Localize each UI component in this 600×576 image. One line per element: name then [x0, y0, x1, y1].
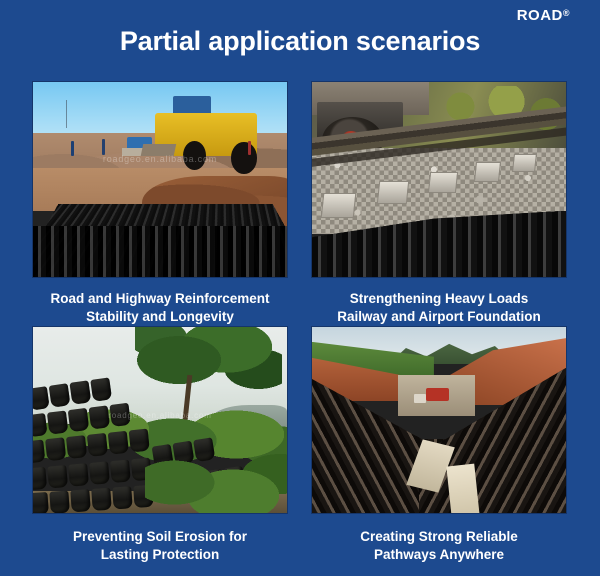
card-caption: Strengthening Heavy Loads Railway and Ai… — [311, 290, 567, 326]
worker-figure — [248, 141, 251, 155]
grader-wheel-front — [183, 141, 206, 170]
photo-road-highway: roadgeo.en.alibaba.com — [32, 81, 288, 278]
concrete-sleeper — [512, 154, 537, 172]
geocell-pocket — [45, 437, 66, 461]
grader-wheel-rear — [231, 142, 256, 173]
geocell-pocket — [49, 383, 71, 407]
caption-line-1: Creating Strong Reliable — [311, 528, 567, 546]
registered-trademark-icon: ® — [563, 8, 570, 18]
foreground-vegetation — [145, 431, 288, 514]
geocell-pocket — [90, 377, 112, 401]
photo-geocell-channel — [311, 326, 567, 514]
site-equipment — [414, 394, 427, 403]
geocell-pocket — [87, 433, 108, 457]
geocell-pocket — [70, 489, 90, 512]
power-tower-icon — [66, 100, 67, 128]
caption-line-2: Pathways Anywhere — [311, 546, 567, 564]
card-caption: Preventing Soil Erosion for Lasting Prot… — [32, 528, 288, 564]
card-railway-airport: Strengthening Heavy Loads Railway and Ai… — [311, 81, 567, 326]
geocell-pocket — [108, 431, 129, 455]
geocell-pocket — [66, 435, 87, 459]
grader-blade — [141, 144, 176, 156]
image-watermark: roadgeo.en.alibaba.com — [58, 411, 261, 420]
card-caption: Creating Strong Reliable Pathways Anywhe… — [311, 528, 567, 564]
red-excavator — [426, 388, 449, 401]
geocell-pocket — [110, 459, 131, 483]
card-soil-erosion: roadgeo.en.alibaba.com Preventing Soil E… — [32, 326, 288, 564]
geocell-pocket — [68, 463, 89, 487]
geocell-pocket — [89, 461, 110, 485]
geocell-pocket — [69, 380, 91, 404]
caption-line-2: Railway and Airport Foundation — [311, 308, 567, 326]
card-pathways: Creating Strong Reliable Pathways Anywhe… — [311, 326, 567, 564]
geocell-pocket — [91, 487, 111, 510]
concrete-sleeper — [321, 193, 357, 218]
photo-soil-erosion-slope: roadgeo.en.alibaba.com — [32, 326, 288, 514]
caption-line-1: Preventing Soil Erosion for — [32, 528, 288, 546]
geocell-pocket — [32, 467, 47, 491]
page-title: Partial application scenarios — [0, 27, 600, 57]
geocell-pocket — [32, 439, 45, 463]
concrete-sleeper — [474, 162, 501, 182]
caption-line-1: Strengthening Heavy Loads — [311, 290, 567, 308]
geocell-pocket — [32, 386, 50, 410]
geocell-pocket — [49, 490, 69, 513]
geocell-pocket — [32, 413, 48, 437]
timber-plank — [447, 463, 480, 514]
caption-line-2: Stability and Longevity — [32, 308, 288, 326]
geocell-pocket — [47, 465, 68, 489]
brand-logo: ROAD® — [517, 8, 570, 23]
worker-figure — [102, 139, 105, 155]
geocell-foreground-edge — [33, 226, 287, 277]
worker-figure — [71, 141, 74, 156]
card-caption: Road and Highway Reinforcement Stability… — [32, 290, 288, 326]
caption-line-1: Road and Highway Reinforcement — [32, 290, 288, 308]
concrete-sleeper — [377, 181, 410, 204]
brand-logo-text: ROAD — [517, 7, 563, 24]
geocell-pocket — [112, 486, 132, 509]
concrete-sleeper — [428, 172, 458, 193]
geocell-pocket — [32, 492, 49, 514]
card-road-highway: roadgeo.en.alibaba.com Road and Highway … — [32, 81, 288, 326]
photo-railway-foundation — [311, 81, 567, 278]
caption-line-2: Lasting Protection — [32, 546, 288, 564]
